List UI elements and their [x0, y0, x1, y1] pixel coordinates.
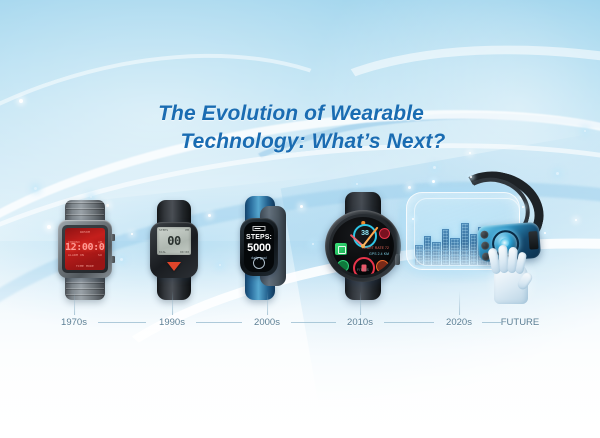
screen-time-readout: 12:00:00: [65, 242, 105, 253]
timeline-connector: [384, 322, 434, 323]
timeline-node-2010s[interactable]: 2010s: [347, 317, 373, 328]
screen-bottom-left-label: KCAL: [159, 250, 166, 254]
timeline-tick: [74, 291, 75, 315]
timeline-connector: [196, 322, 242, 323]
watch-button[interactable]: [111, 256, 115, 263]
glow-particle: [120, 258, 123, 261]
slide-title: The Evolution of Wearable Technology: Wh…: [0, 100, 600, 156]
timeline-label: 1970s: [61, 317, 87, 328]
watch-bezel: 38 HEART RATE 72 GPS 2.4 KM FIT OS: [329, 214, 397, 278]
screen-steps-label: STEPS:: [244, 234, 274, 241]
screen-left-label-2: ALARM ON: [68, 253, 84, 257]
screen-bottom-right-label: 00:00: [180, 250, 189, 254]
timeline-tick: [360, 291, 361, 315]
watch-case: STEPS PM 00 KCAL 00:00: [150, 222, 198, 278]
watch-os-label: FIT OS: [332, 268, 394, 272]
glow-particle: [575, 219, 577, 221]
sensor-pod-icon: [480, 230, 489, 239]
timeline-label: 2020s: [446, 317, 472, 328]
glow-particle: [312, 243, 314, 245]
timeline-node-2000s[interactable]: 2000s: [254, 317, 280, 328]
screen-top-right-label: PM: [185, 228, 189, 232]
hologram-spark: [470, 176, 472, 178]
timeline-node-2020s[interactable]: 2020s: [446, 317, 472, 328]
timeline-tick: [267, 291, 268, 315]
timeline-node-future[interactable]: FUTURE: [501, 317, 540, 328]
glow-particle: [556, 172, 559, 175]
hand-center-cap: [361, 244, 365, 248]
timeline-tick: [172, 291, 173, 315]
gps-readout: GPS 2.4 KM: [369, 252, 389, 256]
timeline-connector: [482, 322, 502, 323]
glow-particle: [433, 166, 436, 169]
home-button-icon[interactable]: [253, 257, 265, 269]
heart-rate-ring-icon[interactable]: [353, 257, 375, 275]
watch-screen: WR50M CHRONO AM 12:00:00 ALARM ON SU TIM…: [65, 228, 105, 270]
glow-particle: [208, 214, 211, 217]
glow-particle: [90, 196, 92, 198]
hologram-spark: [432, 180, 435, 183]
glow-particle: [47, 225, 51, 229]
slide-title-line-1: The Evolution of Wearable: [0, 100, 600, 128]
device-2010s-round-smartwatch[interactable]: 38 HEART RATE 72 GPS 2.4 KM FIT OS: [322, 192, 404, 300]
screen-step-count: 00: [157, 234, 191, 248]
timeline-node-1990s[interactable]: 1990s: [159, 317, 185, 328]
app-icon-messages[interactable]: [335, 243, 347, 255]
watch-button[interactable]: [111, 234, 115, 241]
timeline-connector: [98, 322, 146, 323]
watch-bezel: WR50M CHRONO AM 12:00:00 ALARM ON SU TIM…: [62, 225, 108, 273]
timeline-label: 1990s: [159, 317, 185, 328]
hologram-spark: [412, 218, 414, 220]
app-icon-alarm[interactable]: [379, 228, 390, 239]
watch-screen: STEPS PM 00 KCAL 00:00: [157, 227, 191, 255]
glow-particle: [34, 187, 37, 190]
hand-holding-headset: [488, 246, 540, 304]
timeline-label: 2010s: [347, 317, 373, 328]
heart-rate-readout: HEART RATE 72: [362, 246, 389, 250]
glow-particle: [131, 233, 133, 235]
screen-right-label-2: SU: [98, 253, 102, 257]
device-1990s-pedometer-watch[interactable]: STEPS PM 00 KCAL 00:00: [143, 200, 205, 300]
glow-particle: [219, 264, 221, 266]
device-2000s-fitness-band[interactable]: STEPS: 5000 daily goal: [228, 196, 294, 300]
screen-top-label: WR50M: [65, 230, 105, 234]
glow-particle: [300, 205, 303, 208]
hologram-spark: [522, 206, 524, 208]
watch-case: 38 HEART RATE 72 GPS 2.4 KM FIT OS: [325, 210, 401, 282]
timeline-label: 2000s: [254, 317, 280, 328]
timeline-connector: [291, 322, 336, 323]
battery-icon: [253, 226, 266, 231]
watch-case: WR50M CHRONO AM 12:00:00 ALARM ON SU TIM…: [58, 220, 112, 278]
device-future-ar-vr-headset[interactable]: [404, 172, 554, 304]
slide-title-line-2: Technology: What’s Next?: [0, 128, 600, 156]
screen-bottom-label: TIME MODE: [65, 264, 105, 268]
timeline-node-1970s[interactable]: 1970s: [61, 317, 87, 328]
device-1970s-digital-led-watch[interactable]: WR50M CHRONO AM 12:00:00 ALARM ON SU TIM…: [52, 200, 118, 300]
screen-steps-value: 5000: [244, 242, 274, 254]
watch-face: 38 HEART RATE 72 GPS 2.4 KM FIT OS: [332, 217, 394, 275]
timeline-tick: [459, 291, 460, 315]
band-case: STEPS: 5000 daily goal: [240, 218, 278, 276]
triangle-button-icon[interactable]: [167, 262, 181, 271]
hologram-spark: [544, 232, 546, 234]
glow-particle: [356, 183, 358, 185]
timeline-label: FUTURE: [501, 317, 540, 328]
timeline: 1970s 1990s 2000s 2010s 2020s FUTURE: [0, 317, 600, 337]
slide-canvas: The Evolution of Wearable Technology: Wh…: [0, 0, 600, 438]
band-screen: STEPS: 5000 daily goal: [244, 222, 274, 272]
